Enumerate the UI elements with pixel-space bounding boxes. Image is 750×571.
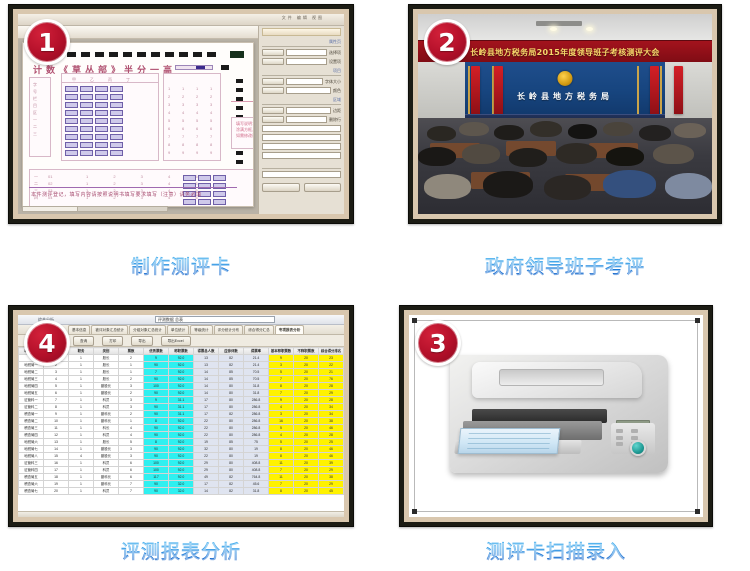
table-cell: 6 bbox=[119, 474, 144, 481]
table-cell: 18 bbox=[44, 474, 69, 481]
table-cell: 7 bbox=[269, 376, 294, 383]
table-cell: 34 bbox=[319, 411, 344, 418]
table-cell: 6 bbox=[119, 460, 144, 467]
omr-bubble-grid: 甲乙丙丁 bbox=[61, 73, 159, 161]
table-cell: 90 bbox=[144, 404, 169, 411]
audience-head bbox=[494, 125, 523, 140]
table-cell: 1 bbox=[69, 474, 94, 481]
property-button[interactable] bbox=[262, 49, 284, 56]
table-cell: 75 bbox=[244, 439, 269, 446]
table-row[interactable]: 稽查局二101副科长1892.02280286.8162038 bbox=[19, 418, 344, 425]
table-cell: 稽查局二 bbox=[19, 418, 44, 425]
table-cell: 25 bbox=[319, 439, 344, 446]
panel-4-number-badge: 4 bbox=[24, 320, 70, 366]
table-cell: 92.0 bbox=[169, 425, 194, 432]
property-button[interactable] bbox=[262, 116, 284, 123]
table-cell: 21.4 bbox=[244, 355, 269, 362]
panel-1-number: 1 bbox=[27, 22, 67, 62]
panel-1[interactable]: 文件 编辑 视图 计数《草丛部》半分一高 bbox=[8, 4, 354, 224]
table-cell: 39 bbox=[319, 460, 344, 467]
audience-head bbox=[483, 171, 533, 198]
property-field[interactable] bbox=[262, 143, 341, 150]
tab-unit-stats[interactable]: 单位统计 bbox=[167, 325, 189, 334]
table-cell: 科长 bbox=[94, 425, 119, 432]
table-cell: 2 bbox=[119, 355, 144, 362]
table-cell: 科员 bbox=[94, 397, 119, 404]
panel-4-frame-mat: 综合分析 评测数据 总表 基本信息 被评对象汇总统计 分组对象汇总统计 单位统计… bbox=[13, 310, 349, 522]
report-table-body: 1股长2992.0138221.492023地税局一21股长19092.0138… bbox=[19, 355, 344, 495]
panel-1-frame: 文件 编辑 视图 计数《草丛部》半分一高 bbox=[8, 4, 354, 224]
report-column-header[interactable]: 类别 bbox=[94, 348, 119, 355]
table-cell: 稽查局三 bbox=[19, 425, 44, 432]
panel-3-number: 3 bbox=[418, 323, 458, 363]
table-cell: 7 bbox=[269, 390, 294, 397]
table-cell: 16 bbox=[44, 460, 69, 467]
table-cell: 1 bbox=[69, 446, 94, 453]
table-cell: 80 bbox=[219, 390, 244, 397]
table-cell: 28 bbox=[319, 397, 344, 404]
table-cell: 17 bbox=[194, 397, 219, 404]
tab-grade-stats[interactable]: 等级统计 bbox=[190, 325, 212, 334]
query-button[interactable]: 查询 bbox=[73, 336, 94, 346]
panel-2-caption: 政府领导班子考评 bbox=[408, 252, 722, 279]
tab-special-report-analysis[interactable]: 专项报表分析 bbox=[275, 325, 305, 334]
report-column-header[interactable]: 不称职票数 bbox=[294, 348, 319, 355]
table-cell: 38 bbox=[319, 418, 344, 425]
audience-head bbox=[418, 147, 456, 166]
table-cell: 副科长 bbox=[94, 481, 119, 488]
report-table-scroll[interactable]: 单位名称序号职务类别票数优秀票数称职票数得票总人数应参评数得票率基本称职票数不称… bbox=[18, 347, 344, 511]
ceiling-light bbox=[550, 27, 557, 31]
scanned-card-stack bbox=[457, 428, 560, 454]
property-row[interactable]: 字体大小 bbox=[262, 78, 341, 85]
table-cell: 8 bbox=[44, 404, 69, 411]
panel-3-image: 3 bbox=[409, 315, 703, 517]
table-row[interactable]: 地税局一21股长19092.0138221.432022 bbox=[19, 362, 344, 369]
table-cell: 286.8 bbox=[244, 425, 269, 432]
canvas-hscrollbar[interactable] bbox=[22, 206, 168, 212]
report-table: 单位名称序号职务类别票数优秀票数称职票数得票总人数应参评数得票率基本称职票数不称… bbox=[18, 347, 344, 495]
tab-subject-summary[interactable]: 被评对象汇总统计 bbox=[91, 325, 128, 334]
panel-1-frame-mat: 文件 编辑 视图 计数《草丛部》半分一高 bbox=[13, 9, 349, 219]
table-cell: 1 bbox=[69, 425, 94, 432]
table-cell: 20 bbox=[294, 369, 319, 376]
table-cell: 82 bbox=[219, 474, 244, 481]
table-cell: 8 bbox=[269, 453, 294, 460]
table-cell: 1 bbox=[69, 439, 94, 446]
property-button[interactable] bbox=[262, 58, 284, 65]
table-cell: 85 bbox=[219, 376, 244, 383]
table-cell: 1 bbox=[69, 397, 94, 404]
omr-left-column: 字号栏目区一二三 bbox=[29, 77, 51, 157]
table-cell: 286.8 bbox=[244, 432, 269, 439]
table-cell: 22 bbox=[194, 418, 219, 425]
table-cell: 1 bbox=[69, 376, 94, 383]
scanner-button[interactable] bbox=[616, 429, 623, 433]
table-row[interactable]: 稽查局六191副科长79032.0178245.672029 bbox=[19, 481, 344, 488]
table-cell: 3 bbox=[269, 362, 294, 369]
table-cell: 20 bbox=[294, 404, 319, 411]
table-cell: 2 bbox=[119, 411, 144, 418]
property-row[interactable] bbox=[262, 125, 341, 132]
table-cell: 6 bbox=[119, 467, 144, 474]
table-cell: 17 bbox=[194, 404, 219, 411]
table-cell: 20 bbox=[294, 446, 319, 453]
table-cell: 20 bbox=[294, 432, 319, 439]
table-cell: 地税局五 bbox=[19, 390, 44, 397]
table-cell: 地税局二 bbox=[19, 369, 44, 376]
property-row[interactable] bbox=[262, 152, 341, 159]
app1-workarea: 计数《草丛部》半分一高 字号栏目区一二三 甲 bbox=[18, 39, 258, 214]
property-action-row[interactable] bbox=[262, 183, 341, 192]
table-cell: 20 bbox=[294, 376, 319, 383]
property-field[interactable] bbox=[286, 49, 327, 56]
property-row[interactable]: 选择项 bbox=[262, 49, 341, 56]
scanner-body bbox=[450, 355, 668, 472]
scanner-start-knob[interactable] bbox=[630, 440, 646, 456]
table-row[interactable]: 地税局四51副股长310092.0148031.882028 bbox=[19, 383, 344, 390]
flag bbox=[650, 66, 659, 114]
table-cell: 稽查局六 bbox=[19, 481, 44, 488]
omr-instruction-box: 填写说明：须用2B铅笔填涂涂满方框，不可折叠污损如需修改请用橡皮擦净 bbox=[231, 117, 254, 149]
tab-total-score-summary[interactable]: 综合得分汇总 bbox=[244, 325, 274, 334]
table-row[interactable]: 稽查局五181副科长611792.04982764.8112038 bbox=[19, 474, 344, 481]
table-cell: 90 bbox=[144, 488, 169, 495]
export-button[interactable]: 导出 bbox=[131, 336, 152, 346]
table-cell: 92.0 bbox=[169, 446, 194, 453]
table-cell: 19 bbox=[44, 481, 69, 488]
table-cell: 9 bbox=[144, 355, 169, 362]
table-cell: 11 bbox=[269, 474, 294, 481]
table-cell: 8 bbox=[144, 418, 169, 425]
table-cell: 90 bbox=[144, 481, 169, 488]
table-cell: 5 bbox=[44, 383, 69, 390]
table-cell: 90 bbox=[144, 411, 169, 418]
panel-3-caption: 测评卡扫描录入 bbox=[399, 537, 713, 564]
table-cell: 29 bbox=[319, 467, 344, 474]
property-label: 颜色 bbox=[333, 88, 341, 94]
scanner-top-cover bbox=[472, 362, 642, 397]
table-cell: 4 bbox=[69, 453, 94, 460]
table-row[interactable]: 稽查局七201科员79032.0148231.882045 bbox=[19, 488, 344, 495]
property-row[interactable]: 设置项 bbox=[262, 58, 341, 65]
table-cell: 80 bbox=[219, 397, 244, 404]
table-cell: 85 bbox=[219, 369, 244, 376]
property-button[interactable] bbox=[262, 87, 284, 94]
table-cell: 14 bbox=[194, 369, 219, 376]
table-row[interactable]: 征管科一71科员3931.11780286.892028 bbox=[19, 397, 344, 404]
audience-head bbox=[459, 122, 488, 136]
table-cell: 16 bbox=[269, 418, 294, 425]
omr-card-canvas[interactable]: 计数《草丛部》半分一高 字号栏目区一二三 甲 bbox=[22, 42, 254, 207]
report-column-header[interactable]: 应参评数 bbox=[219, 348, 244, 355]
table-cell: 征管科四 bbox=[19, 467, 44, 474]
table-cell: 14 bbox=[194, 390, 219, 397]
table-cell: 92.0 bbox=[169, 383, 194, 390]
table-cell: 80 bbox=[219, 418, 244, 425]
table-row[interactable]: 征管科四171科员610092.02980408.872029 bbox=[19, 467, 344, 474]
audience-head bbox=[606, 147, 644, 166]
table-cell: 92.0 bbox=[169, 453, 194, 460]
property-field[interactable] bbox=[286, 78, 323, 85]
table-cell: 29 bbox=[319, 481, 344, 488]
export-excel-button[interactable]: 导出Excel bbox=[161, 336, 191, 346]
table-cell: 1 bbox=[69, 481, 94, 488]
table-cell: 46 bbox=[319, 453, 344, 460]
table-cell: 90 bbox=[144, 376, 169, 383]
table-cell: 17 bbox=[194, 481, 219, 488]
table-cell: 7 bbox=[144, 369, 169, 376]
tab-score-distribution[interactable]: 评分统计分布 bbox=[214, 325, 244, 334]
table-row[interactable]: 地税局七141副股长39092.032801982046 bbox=[19, 446, 344, 453]
report-column-header[interactable]: 称职票数 bbox=[169, 348, 194, 355]
table-cell: 稽查局一 bbox=[19, 411, 44, 418]
table-cell: 31.1 bbox=[169, 411, 194, 418]
selection-handle-bottom-right[interactable] bbox=[695, 509, 700, 514]
property-button[interactable] bbox=[262, 78, 284, 85]
table-row[interactable]: 地税局五61副股长29092.0148031.872029 bbox=[19, 390, 344, 397]
table-cell: 20 bbox=[294, 418, 319, 425]
scanner-button[interactable] bbox=[631, 429, 638, 433]
audience-head bbox=[674, 123, 706, 138]
table-cell: 92.0 bbox=[169, 418, 194, 425]
table-cell: 1 bbox=[69, 488, 94, 495]
table-cell: 3 bbox=[119, 446, 144, 453]
app1-titlebar: 文件 编辑 视图 bbox=[18, 14, 344, 26]
table-row[interactable]: 地税局八154副股长39092.022801982046 bbox=[19, 453, 344, 460]
report-column-header[interactable]: 综合得分排名 bbox=[319, 348, 344, 355]
table-cell: 11 bbox=[269, 460, 294, 467]
table-cell: 7 bbox=[44, 397, 69, 404]
table-cell: 地税局四 bbox=[19, 383, 44, 390]
table-cell: 14 bbox=[44, 446, 69, 453]
selection-handle-top-right[interactable] bbox=[695, 318, 700, 323]
table-cell: 科员 bbox=[94, 467, 119, 474]
table-cell: 副科长 bbox=[94, 474, 119, 481]
poster-root: 文件 编辑 视图 计数《草丛部》半分一高 bbox=[0, 0, 750, 571]
table-cell: 92.0 bbox=[169, 376, 194, 383]
table-cell: 92.0 bbox=[169, 432, 194, 439]
table-cell: 8 bbox=[269, 383, 294, 390]
table-cell: 1 bbox=[69, 369, 94, 376]
report-column-header[interactable]: 基本称职票数 bbox=[269, 348, 294, 355]
table-cell: 股长 bbox=[94, 369, 119, 376]
table-cell: 副科长 bbox=[94, 411, 119, 418]
table-cell: 13 bbox=[194, 355, 219, 362]
table-cell: 4 bbox=[119, 425, 144, 432]
property-field[interactable] bbox=[262, 134, 341, 141]
table-row[interactable]: 稽查局一91副科长29031.11782286.832034 bbox=[19, 411, 344, 418]
property-section-3: 区域 边距 删除行 bbox=[262, 97, 341, 159]
table-cell: 70.5 bbox=[244, 369, 269, 376]
table-cell: 286.8 bbox=[244, 411, 269, 418]
property-field[interactable] bbox=[262, 152, 341, 159]
tab-basic-info[interactable]: 基本信息 bbox=[68, 325, 90, 334]
panel-4[interactable]: 综合分析 评测数据 总表 基本信息 被评对象汇总统计 分组对象汇总统计 单位统计… bbox=[8, 305, 354, 527]
property-button[interactable] bbox=[262, 107, 284, 114]
table-cell: 90 bbox=[144, 432, 169, 439]
report-column-header[interactable]: 职务 bbox=[69, 348, 94, 355]
table-cell: 29 bbox=[194, 460, 219, 467]
table-cell: 地税局七 bbox=[19, 446, 44, 453]
table-cell: 82 bbox=[219, 488, 244, 495]
table-cell: 764.8 bbox=[244, 474, 269, 481]
audience-head bbox=[568, 124, 597, 139]
audience-head bbox=[639, 125, 671, 141]
table-row[interactable]: 征管科三161科员610092.02980408.8112039 bbox=[19, 460, 344, 467]
panel-2-number-badge: 2 bbox=[424, 19, 470, 65]
property-field[interactable] bbox=[286, 58, 327, 65]
property-row[interactable] bbox=[262, 143, 341, 150]
table-cell: 6 bbox=[44, 390, 69, 397]
report-column-header[interactable]: 优秀票数 bbox=[144, 348, 169, 355]
print-button[interactable]: 打印 bbox=[102, 336, 123, 346]
table-cell: 7 bbox=[269, 481, 294, 488]
table-cell: 14 bbox=[194, 376, 219, 383]
table-cell: 1 bbox=[119, 362, 144, 369]
table-row[interactable]: 1股长2992.0138221.492023 bbox=[19, 355, 344, 362]
panel-2-frame-mat: 长岭县地方税务局2015年度领导班子考核测评大会 长岭县地方税务局 bbox=[413, 9, 717, 219]
scanner-output-tray bbox=[499, 369, 604, 385]
property-field[interactable] bbox=[286, 87, 331, 94]
table-cell: 8 bbox=[144, 439, 169, 446]
table-cell: 20 bbox=[294, 383, 319, 390]
property-section-4-title bbox=[262, 162, 341, 169]
table-cell: 13 bbox=[44, 439, 69, 446]
table-cell: 5 bbox=[269, 369, 294, 376]
table-cell: 4 bbox=[119, 432, 144, 439]
table-cell: 28 bbox=[319, 383, 344, 390]
table-cell: 征管科二 bbox=[19, 404, 44, 411]
table-cell: 1 bbox=[69, 467, 94, 474]
audience-head bbox=[424, 174, 471, 199]
restore-defaults-button[interactable] bbox=[304, 183, 342, 192]
property-panel[interactable]: 属性页 选择项 设置项 bbox=[258, 26, 344, 214]
table-cell: 14 bbox=[194, 383, 219, 390]
table-cell: 7 bbox=[119, 481, 144, 488]
scanner-button[interactable] bbox=[616, 436, 623, 440]
omr-corner-square bbox=[221, 65, 229, 70]
table-cell: 92.0 bbox=[169, 474, 194, 481]
table-cell: 90 bbox=[144, 390, 169, 397]
table-row[interactable]: 征管科二81科员39031.11780286.842034 bbox=[19, 404, 344, 411]
property-field[interactable] bbox=[286, 107, 331, 114]
table-cell: 31.8 bbox=[244, 390, 269, 397]
table-row[interactable]: 稽查局四121科员49092.02280286.842028 bbox=[19, 432, 344, 439]
ceiling-light bbox=[586, 27, 593, 31]
table-cell: 副股长 bbox=[94, 383, 119, 390]
table-row[interactable]: 地税局二31股长1792.0148570.552021 bbox=[19, 369, 344, 376]
panel-4-image: 综合分析 评测数据 总表 基本信息 被评对象汇总统计 分组对象汇总统计 单位统计… bbox=[18, 315, 344, 517]
table-row[interactable]: 稽查局三111科长49092.02280286.852046 bbox=[19, 425, 344, 432]
table-row[interactable]: 地税局六131股长5892.019857552025 bbox=[19, 439, 344, 446]
table-cell: 20 bbox=[294, 439, 319, 446]
panel-4-frame: 综合分析 评测数据 总表 基本信息 被评对象汇总统计 分组对象汇总统计 单位统计… bbox=[8, 305, 354, 527]
table-cell: 20 bbox=[294, 481, 319, 488]
table-cell: 21 bbox=[319, 369, 344, 376]
property-row[interactable] bbox=[262, 134, 341, 141]
table-cell: 1 bbox=[69, 460, 94, 467]
table-cell: 20 bbox=[294, 460, 319, 467]
table-cell: 1 bbox=[69, 362, 94, 369]
table-cell: 286.8 bbox=[244, 418, 269, 425]
omr-bottom-section: 一二三四 01020304 1 2 3 4 51 2 3 4 51 2 3 4 … bbox=[29, 169, 254, 207]
table-cell: 股长 bbox=[94, 362, 119, 369]
table-cell: 408.8 bbox=[244, 460, 269, 467]
property-row[interactable]: 颜色 bbox=[262, 87, 341, 94]
table-cell: 286.8 bbox=[244, 404, 269, 411]
table-cell: 92.0 bbox=[169, 362, 194, 369]
table-cell: 20 bbox=[294, 411, 319, 418]
table-cell: 80 bbox=[219, 383, 244, 390]
table-cell: 20 bbox=[294, 467, 319, 474]
table-cell: 100 bbox=[144, 460, 169, 467]
app4-statusbar bbox=[18, 511, 344, 517]
property-label: 选择项 bbox=[329, 50, 341, 56]
dataset-selector[interactable]: 评测数据 总表 bbox=[155, 316, 275, 323]
scanner-button[interactable] bbox=[631, 436, 638, 440]
omr-number-columns: 123456789 123456789 123456789 123456789 bbox=[163, 73, 221, 161]
scanner-button[interactable] bbox=[616, 442, 623, 446]
panel-1-image: 文件 编辑 视图 计数《草丛部》半分一高 bbox=[18, 14, 344, 214]
table-cell: 100 bbox=[144, 383, 169, 390]
table-row[interactable]: 地税局三41股长29092.0148570.572076 bbox=[19, 376, 344, 383]
table-cell: 90 bbox=[144, 446, 169, 453]
panel-1-caption: 制作测评卡 bbox=[8, 252, 354, 279]
table-cell: 科员 bbox=[94, 432, 119, 439]
property-row[interactable] bbox=[262, 171, 341, 178]
property-field[interactable] bbox=[262, 125, 341, 132]
panel-3-number-badge: 3 bbox=[415, 320, 461, 366]
property-field[interactable] bbox=[286, 116, 327, 123]
apply-settings-button[interactable] bbox=[262, 183, 300, 192]
table-cell: 45.6 bbox=[244, 481, 269, 488]
table-cell: 70.5 bbox=[244, 376, 269, 383]
audience-head bbox=[653, 144, 694, 164]
table-cell: 9 bbox=[44, 411, 69, 418]
wall-left bbox=[418, 62, 465, 126]
table-cell: 8 bbox=[269, 488, 294, 495]
audience-head bbox=[427, 126, 456, 141]
report-column-header[interactable]: 票数 bbox=[119, 348, 144, 355]
panel-3[interactable]: 3 bbox=[399, 305, 713, 527]
tab-group-summary[interactable]: 分组对象汇总统计 bbox=[129, 325, 166, 334]
table-cell: 9 bbox=[144, 397, 169, 404]
report-column-header[interactable]: 得票总人数 bbox=[194, 348, 219, 355]
audience-head bbox=[603, 170, 656, 198]
panel-2[interactable]: 长岭县地方税务局2015年度领导班子考核测评大会 长岭县地方税务局 bbox=[408, 4, 722, 224]
panel-2-frame: 长岭县地方税务局2015年度领导班子考核测评大会 长岭县地方税务局 bbox=[408, 4, 722, 224]
table-cell: 92.0 bbox=[169, 467, 194, 474]
report-column-header[interactable]: 得票率 bbox=[244, 348, 269, 355]
selection-handle-top-left[interactable] bbox=[412, 318, 417, 323]
table-cell: 49 bbox=[194, 474, 219, 481]
panel-2-image: 长岭县地方税务局2015年度领导班子考核测评大会 长岭县地方税务局 bbox=[418, 14, 712, 214]
property-field[interactable] bbox=[262, 171, 341, 178]
property-section-3-title: 区域 bbox=[262, 97, 341, 105]
panel-3-frame-mat: 3 bbox=[404, 310, 708, 522]
table-cell: 22 bbox=[194, 432, 219, 439]
property-row[interactable]: 删除行 bbox=[262, 116, 341, 123]
table-cell: 17 bbox=[44, 467, 69, 474]
table-cell: 1 bbox=[119, 418, 144, 425]
selection-handle-bottom-left[interactable] bbox=[412, 509, 417, 514]
table-cell: 地税局八 bbox=[19, 453, 44, 460]
audience-head bbox=[556, 143, 597, 164]
property-row[interactable]: 边距 bbox=[262, 107, 341, 114]
table-cell: 20 bbox=[294, 362, 319, 369]
table-cell: 副股长 bbox=[94, 446, 119, 453]
